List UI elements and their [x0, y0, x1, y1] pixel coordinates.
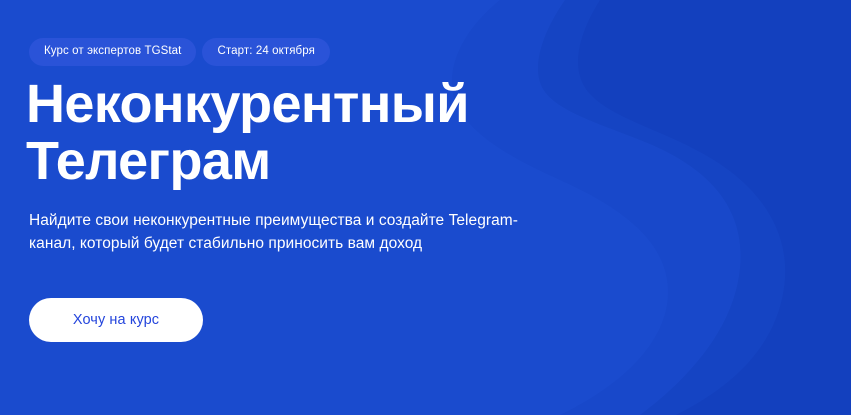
badge-row: Курс от экспертов TGStat Старт: 24 октяб… — [29, 38, 330, 66]
cta-enroll-button[interactable]: Хочу на курс — [29, 298, 203, 342]
hero-title: Неконкурентный Телеграм — [26, 76, 469, 190]
hero-banner: Курс от экспертов TGStat Старт: 24 октяб… — [0, 0, 851, 415]
hero-content: Курс от экспертов TGStat Старт: 24 октяб… — [29, 0, 589, 415]
badge-course-experts[interactable]: Курс от экспертов TGStat — [29, 38, 196, 66]
hero-subtitle: Найдите свои неконкурентные преимущества… — [29, 209, 519, 255]
badge-start-date[interactable]: Старт: 24 октября — [202, 38, 329, 66]
